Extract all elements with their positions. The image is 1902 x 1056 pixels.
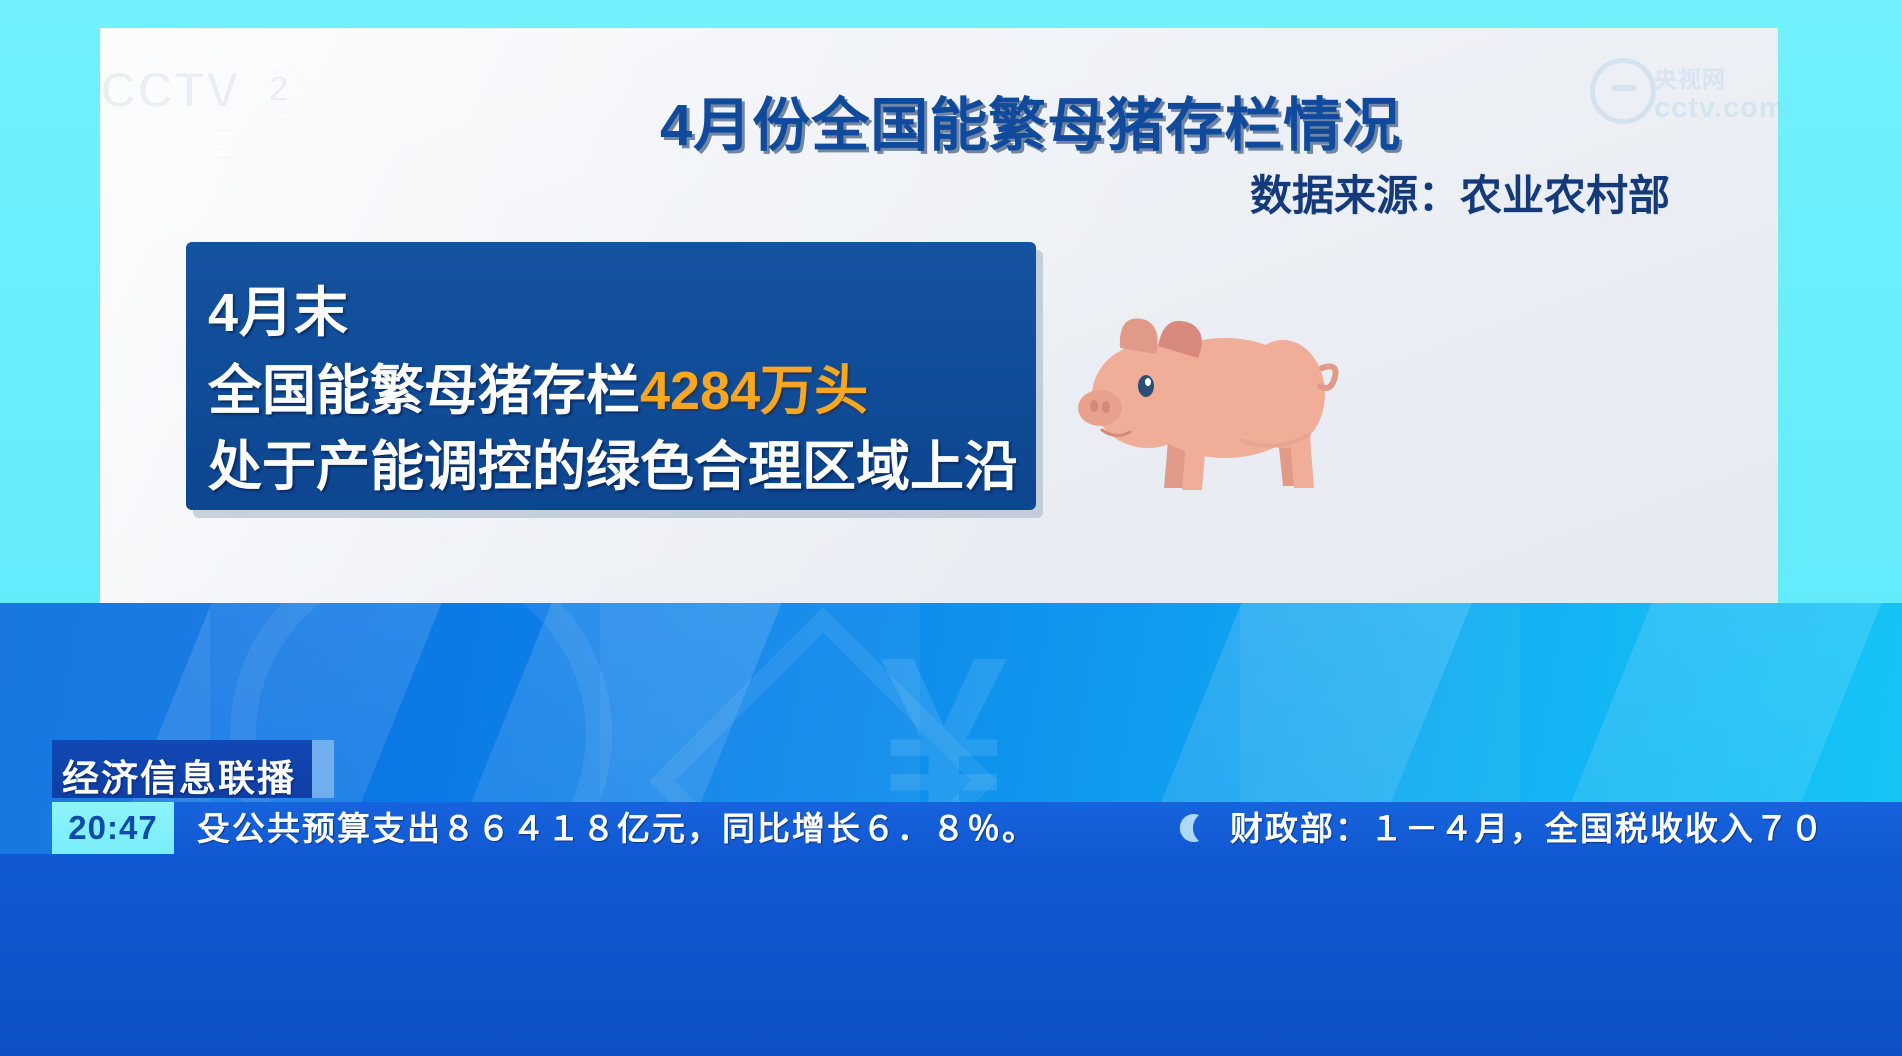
ticker-headline-1: 殳公共预算支出８６４１８亿元，同比增长６．８％。 bbox=[197, 805, 1037, 852]
cctv-logo-wordmark: CCTV 2 bbox=[100, 62, 315, 118]
info-callout-box: 4月末 全国能繁母猪存栏4284万头 处于产能调控的绿色合理区域上沿 bbox=[186, 242, 1036, 510]
cctv-logo-text: CCTV bbox=[100, 62, 240, 118]
clock-time: 20:47 bbox=[68, 809, 157, 847]
info-line-1: 4月末 bbox=[208, 268, 349, 347]
info-line-2: 全国能繁母猪存栏4284万头 bbox=[208, 346, 868, 425]
broadcast-screen: CCTV 2 财经 4月份全国能繁母猪存栏情况 数据来源：农业农村部 央视网 c… bbox=[0, 0, 1902, 1056]
ticker-headline-2: 财政部：１－４月，全国税收收入７０ bbox=[1230, 805, 1825, 852]
pig-illustration bbox=[1040, 290, 1340, 515]
ticker-bottom-fill bbox=[0, 854, 1902, 1056]
news-ticker[interactable]: 20:47 殳公共预算支出８６４１８亿元，同比增长６．８％。 财政部：１－４月，… bbox=[52, 802, 1902, 854]
page-title: 4月份全国能繁母猪存栏情况 bbox=[660, 78, 1670, 162]
crescent-moon-icon bbox=[1177, 812, 1209, 844]
cctv-channel-number: 2 bbox=[252, 63, 306, 117]
info-line-2-highlight: 4284万头 bbox=[640, 361, 868, 421]
program-title-plate-tail bbox=[312, 740, 334, 798]
data-source-label: 数据来源：农业农村部 bbox=[660, 162, 1670, 223]
info-line-3: 处于产能调控的绿色合理区域上沿 bbox=[208, 422, 1018, 501]
info-line-2-prefix: 全国能繁母猪存栏 bbox=[208, 361, 640, 421]
cctv-channel-logo: CCTV 2 财经 bbox=[100, 62, 315, 170]
program-title: 经济信息联播 bbox=[62, 748, 312, 802]
clock-badge: 20:47 bbox=[52, 802, 174, 854]
cctv-channel-subtitle: 财经 bbox=[100, 124, 315, 163]
